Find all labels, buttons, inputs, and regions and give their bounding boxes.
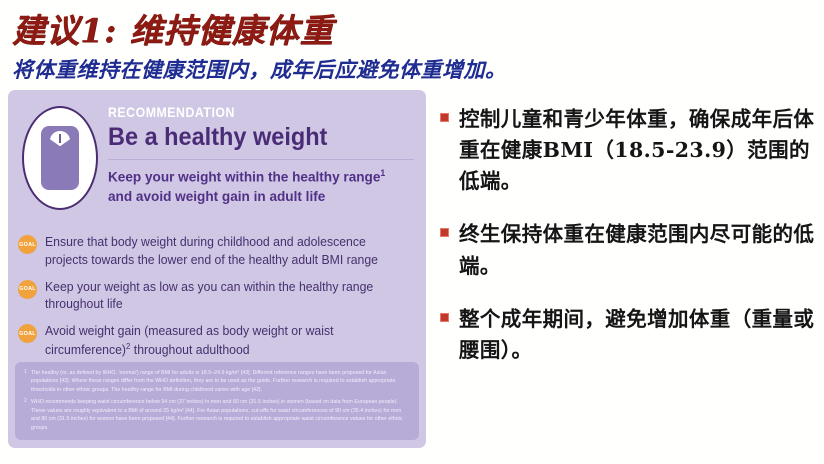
goal-badge-icon: GOAL (18, 280, 37, 299)
list-item-text: 控制儿童和青少年体重，确保成年后体重在健康BMI（18.5-23.9）范围的低端… (459, 104, 816, 197)
list-item-text: 终生保持体重在健康范围内尽可能的低端。 (459, 219, 816, 281)
footnote-ref-1: 1 (380, 168, 385, 178)
list-item: 控制儿童和青少年体重，确保成年后体重在健康BMI（18.5-23.9）范围的低端… (440, 104, 816, 197)
bullet-square-icon (440, 228, 449, 237)
goal-badge-icon: GOAL (18, 235, 37, 254)
recommendation-kicker: RECOMMENDATION (108, 104, 377, 120)
goals-list: GOAL Ensure that body weight during chil… (8, 234, 426, 369)
footnote-marker: 2 (24, 398, 31, 404)
recommendation-subtitle-part1: Keep your weight within the healthy rang… (108, 169, 380, 185)
footnotes-panel: 1 The healthy (or, as defined by WHO, 'n… (15, 362, 419, 440)
recommendation-subtitle: Keep your weight within the healthy rang… (108, 167, 405, 206)
footnote-text: The healthy (or, as defined by WHO, 'nor… (31, 369, 410, 394)
goal-badge-icon: GOAL (18, 324, 37, 343)
footnote-text: WHO recommends keeping waist circumferen… (31, 398, 410, 432)
list-item: 终生保持体重在健康范围内尽可能的低端。 (440, 219, 816, 281)
recommendation-text-block: RECOMMENDATION Be a healthy weight Keep … (108, 104, 414, 206)
page-title: 建议1: 维持健康体重 (12, 4, 334, 52)
header-divider (108, 159, 414, 160)
footnote-item: 2 WHO recommends keeping waist circumfer… (24, 398, 410, 432)
recommendation-title: Be a healthy weight (108, 123, 396, 152)
goal-item: GOAL Avoid weight gain (measured as body… (18, 323, 412, 360)
page-subtitle: 将体重维持在健康范围内，成年后应避免体重增加。 (12, 54, 507, 84)
goal-item: GOAL Ensure that body weight during chil… (18, 234, 412, 270)
bathroom-scale-icon (22, 106, 98, 210)
scale-icon-needle (59, 134, 61, 143)
recommendation-card: RECOMMENDATION Be a healthy weight Keep … (8, 90, 426, 448)
scale-icon-body (41, 126, 79, 190)
bullet-square-icon (440, 113, 449, 122)
chinese-bullet-list: 控制儿童和青少年体重，确保成年后体重在健康BMI（18.5-23.9）范围的低端… (440, 104, 816, 388)
recommendation-subtitle-part2: and avoid weight gain in adult life (108, 188, 325, 204)
goal-item: GOAL Keep your weight as low as you can … (18, 279, 412, 315)
goal-text: Ensure that body weight during childhood… (45, 234, 405, 270)
bullet-square-icon (440, 313, 449, 322)
recommendation-header: RECOMMENDATION Be a healthy weight Keep … (8, 90, 426, 238)
footnote-item: 1 The healthy (or, as defined by WHO, 'n… (24, 369, 410, 394)
goal-text: Avoid weight gain (measured as body weig… (45, 323, 405, 360)
list-item-text: 整个成年期间，避免增加体重（重量或腰围）。 (459, 304, 816, 366)
list-item: 整个成年期间，避免增加体重（重量或腰围）。 (440, 304, 816, 366)
footnote-marker: 1 (24, 369, 31, 375)
goal-text-part2: throughout adulthood (130, 343, 249, 357)
goal-text: Keep your weight as low as you can withi… (45, 279, 405, 315)
